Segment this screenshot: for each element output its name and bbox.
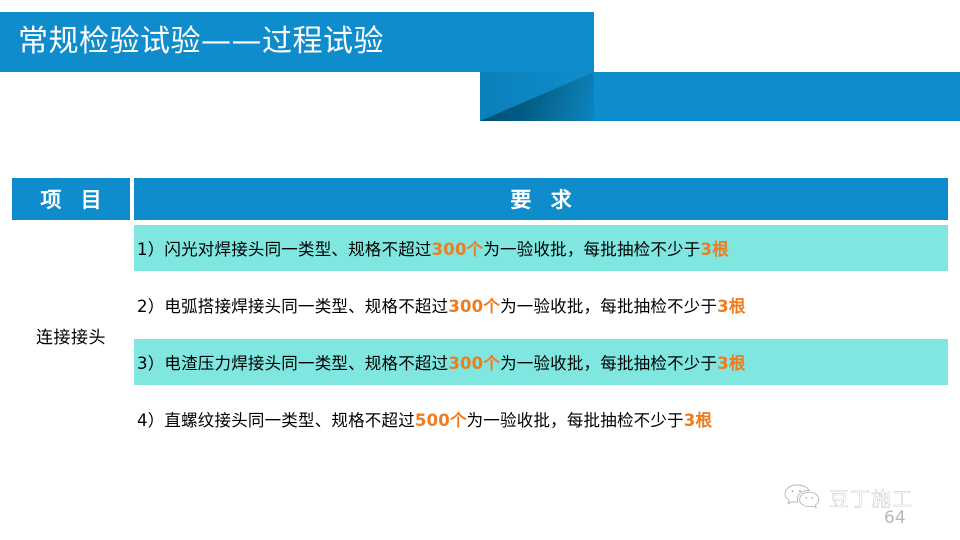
row-index: 2） — [137, 293, 164, 317]
page-number: 64 — [884, 508, 906, 528]
table-row: 3）电渣压力焊接头同一类型、规格不超过300个为一验收批，每批抽检不少于3根 — [134, 339, 948, 385]
row-gap — [134, 328, 948, 339]
row-text-prefix: 电渣压力焊接头同一类型、规格不超过 — [164, 350, 448, 374]
table-row: 4）直螺纹接头同一类型、规格不超过500个为一验收批，每批抽检不少于3根 — [134, 396, 948, 442]
row-sample-highlight: 3根 — [700, 236, 728, 260]
table-row: 1）闪光对焊接头同一类型、规格不超过300个为一验收批，每批抽检不少于3根 — [134, 225, 948, 271]
row-count-highlight: 500个 — [415, 407, 467, 431]
column-header-item: 项 目 — [12, 178, 130, 220]
row-sample-highlight: 3根 — [684, 407, 712, 431]
row-text-middle: 为一验收批，每批抽检不少于 — [500, 293, 717, 317]
row-sample-highlight: 3根 — [717, 350, 745, 374]
row-text-middle: 为一验收批，每批抽检不少于 — [500, 350, 717, 374]
row-gap — [134, 271, 948, 282]
requirements-table: 项 目 要 求 连接接头 1）闪光对焊接头同一类型、规格不超过300个为一验收批… — [12, 178, 948, 445]
row-index: 4） — [137, 407, 164, 431]
table-body: 连接接头 1）闪光对焊接头同一类型、规格不超过300个为一验收批，每批抽检不少于… — [12, 225, 948, 445]
table-row: 2）电弧搭接焊接头同一类型、规格不超过300个为一验收批，每批抽检不少于3根 — [134, 282, 948, 328]
row-count-highlight: 300个 — [448, 293, 500, 317]
row-text-middle: 为一验收批，每批抽检不少于 — [467, 407, 684, 431]
wechat-icon — [783, 482, 823, 512]
row-gap — [134, 385, 948, 396]
row-text-prefix: 电弧搭接焊接头同一类型、规格不超过 — [164, 293, 448, 317]
column-header-requirement: 要 求 — [134, 178, 948, 220]
row-count-highlight: 300个 — [448, 350, 500, 374]
requirement-row-list: 1）闪光对焊接头同一类型、规格不超过300个为一验收批，每批抽检不少于3根2）电… — [134, 225, 948, 442]
row-sample-highlight: 3根 — [717, 293, 745, 317]
table-header-row: 项 目 要 求 — [12, 178, 948, 220]
row-text-middle: 为一验收批，每批抽检不少于 — [483, 236, 700, 260]
page-title: 常规检验试验——过程试验 — [18, 12, 384, 72]
row-text-prefix: 闪光对焊接头同一类型、规格不超过 — [164, 236, 431, 260]
row-index: 1） — [137, 236, 164, 260]
row-text-prefix: 直螺纹接头同一类型、规格不超过 — [164, 407, 415, 431]
slide-title-banner: 常规检验试验——过程试验 — [0, 0, 960, 130]
row-group-label: 连接接头 — [12, 225, 130, 445]
row-index: 3） — [137, 350, 164, 374]
row-count-highlight: 300个 — [432, 236, 484, 260]
